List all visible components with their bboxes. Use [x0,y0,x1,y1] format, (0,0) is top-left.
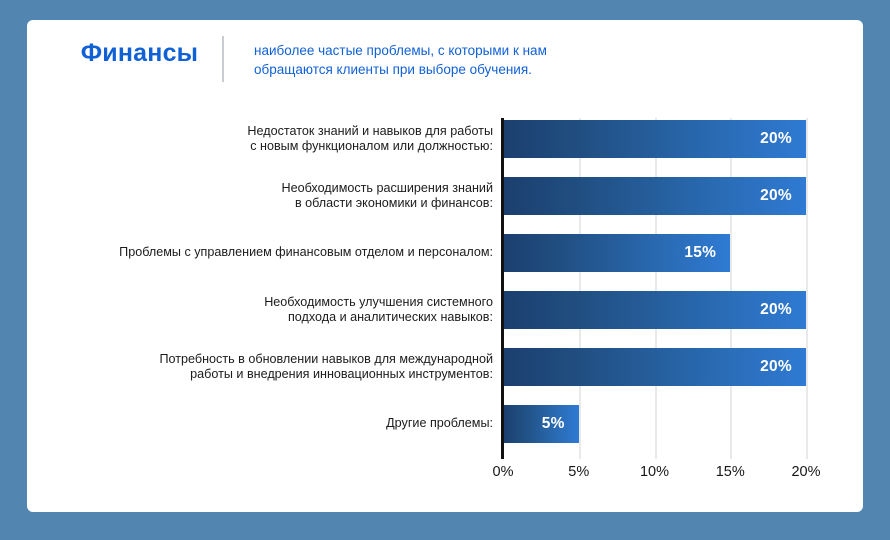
category-axis-labels: Недостаток знаний и навыков для работыс … [53,118,493,459]
category-label-line: Необходимость улучшения системного [63,295,493,311]
x-tick-label: 10% [640,464,669,480]
bar-value-label: 5% [542,405,565,443]
header-divider [222,36,224,82]
bar-row[interactable]: 5% [503,405,806,443]
category-label-line: с новым функционалом или должностью: [63,139,493,155]
category-label-line: Необходимость расширения знаний [63,181,493,197]
bar-chart: Недостаток знаний и навыков для работыс … [27,98,863,512]
bar-row[interactable]: 20% [503,348,806,386]
bar-value-label: 20% [760,120,792,158]
category-label: Потребность в обновлении навыков для меж… [63,352,493,383]
category-label: Недостаток знаний и навыков для работыс … [63,124,493,155]
value-axis-line [501,118,504,459]
bar-row[interactable]: 15% [503,234,806,272]
header-subtitle-line-2: обращаются клиенты при выборе обучения. [254,60,654,79]
poster-frame: Финансы наиболее частые проблемы, с кото… [0,0,890,540]
bar-value-label: 20% [760,177,792,215]
x-tick-label: 5% [568,464,589,480]
page-title: Финансы [57,38,222,68]
category-label-line: Потребность в обновлении навыков для меж… [63,352,493,368]
bar-value-label: 20% [760,348,792,386]
category-label: Проблемы с управлением финансовым отдело… [63,245,493,261]
x-tick-label: 20% [791,464,820,480]
bar-row[interactable]: 20% [503,120,806,158]
header-subtitle-line-1: наиболее частые проблемы, с которыми к н… [254,41,654,60]
gridline [806,118,808,459]
header-subtitle: наиболее частые проблемы, с которыми к н… [254,41,654,79]
category-label-line: в области экономики и финансов: [63,196,493,212]
bar-value-label: 15% [684,234,716,272]
category-label-line: Другие проблемы: [63,416,493,432]
bar-value-label: 20% [760,291,792,329]
category-label-line: Проблемы с управлением финансовым отдело… [63,245,493,261]
bar-row[interactable]: 20% [503,291,806,329]
category-label-line: подхода и аналитических навыков: [63,310,493,326]
category-label-line: работы и внедрения инновационных инструм… [63,367,493,383]
header: Финансы наиболее частые проблемы, с кото… [27,20,863,98]
content-card: Финансы наиболее частые проблемы, с кото… [27,20,863,512]
category-label: Необходимость улучшения системногоподход… [63,295,493,326]
x-tick-label: 0% [493,464,514,480]
category-label: Необходимость расширения знанийв области… [63,181,493,212]
category-label: Другие проблемы: [63,416,493,432]
x-tick-label: 15% [716,464,745,480]
plot-area: 20%20%15%20%20%5% [503,118,806,459]
category-label-line: Недостаток знаний и навыков для работы [63,124,493,140]
bar-row[interactable]: 20% [503,177,806,215]
value-axis-labels: 0%5%10%15%20% [503,464,833,488]
